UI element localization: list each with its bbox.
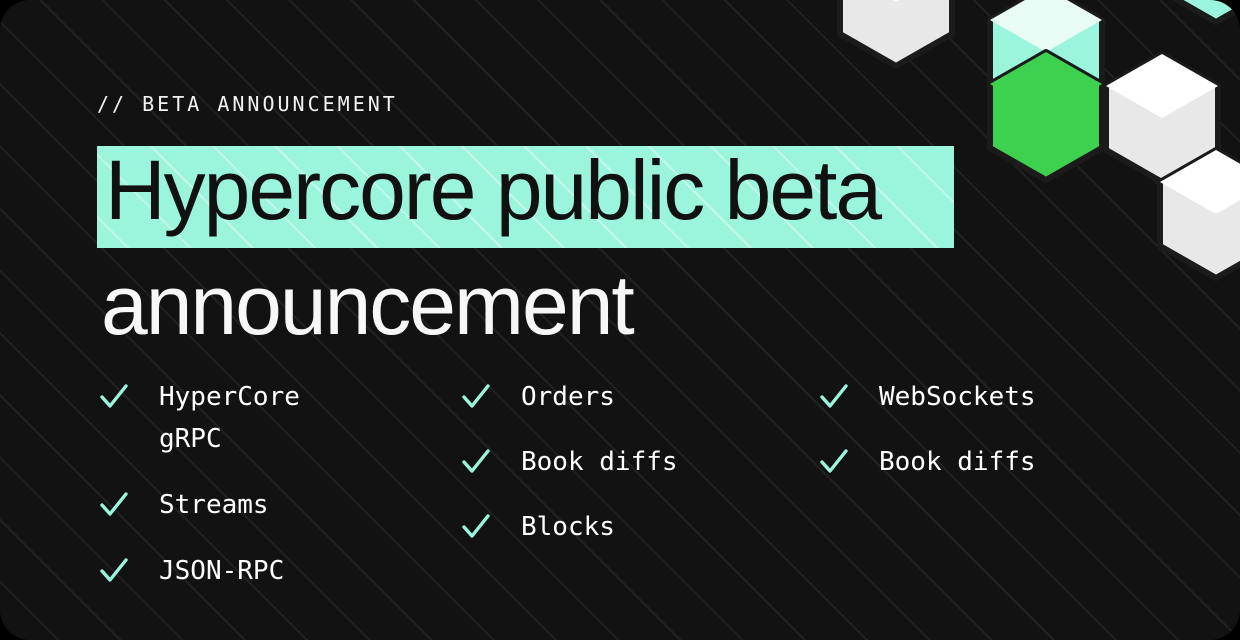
feature-item-label: HyperCore gRPC xyxy=(159,376,354,460)
feature-column-2: WebSocketsBook diffs xyxy=(819,376,1149,616)
feature-item: Orders xyxy=(461,376,819,418)
headline-highlight-box: Hypercore public beta xyxy=(97,146,954,248)
check-icon xyxy=(461,512,491,542)
check-icon xyxy=(99,490,129,520)
cube-white-lower-right xyxy=(1160,150,1240,278)
feature-item-label: WebSockets xyxy=(879,376,1036,418)
feature-item: JSON-RPC xyxy=(99,550,461,592)
check-icon xyxy=(819,447,849,477)
feature-item-label: Book diffs xyxy=(879,441,1036,483)
check-icon xyxy=(99,382,129,412)
cube-mint-corner xyxy=(1160,0,1240,22)
feature-item: HyperCore gRPC xyxy=(99,376,461,460)
feature-column-1: OrdersBook diffsBlocks xyxy=(461,376,819,616)
check-icon xyxy=(819,382,849,412)
check-icon xyxy=(99,556,129,586)
feature-item: Blocks xyxy=(461,506,819,548)
page-title-line-2: announcement xyxy=(101,258,633,352)
feature-item: Book diffs xyxy=(461,441,819,483)
feature-item-label: Orders xyxy=(521,376,615,418)
feature-item: WebSockets xyxy=(819,376,1149,418)
feature-item: Book diffs xyxy=(819,441,1149,483)
feature-list: HyperCore gRPCStreamsJSON-RPCOrdersBook … xyxy=(99,376,1159,616)
feature-item-label: Blocks xyxy=(521,506,615,548)
feature-item-label: Book diffs xyxy=(521,441,678,483)
feature-item-label: Streams xyxy=(159,484,269,526)
feature-item-label: JSON-RPC xyxy=(159,550,284,592)
banner-content: // BETA ANNOUNCEMENT Hypercore public be… xyxy=(97,0,1157,640)
beta-announcement-banner: // BETA ANNOUNCEMENT Hypercore public be… xyxy=(0,0,1240,640)
page-title-line-1: Hypercore public beta xyxy=(105,146,880,241)
check-icon xyxy=(461,447,491,477)
eyebrow-label: // BETA ANNOUNCEMENT xyxy=(97,92,398,116)
feature-column-0: HyperCore gRPCStreamsJSON-RPC xyxy=(99,376,461,616)
check-icon xyxy=(461,382,491,412)
feature-item: Streams xyxy=(99,484,461,526)
